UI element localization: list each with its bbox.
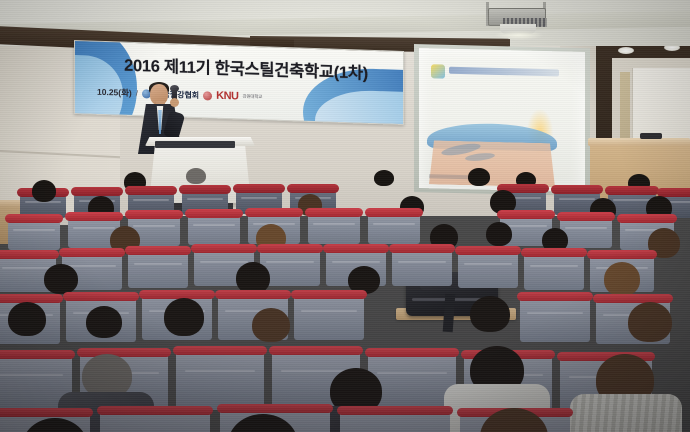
seat bbox=[524, 252, 584, 290]
seat bbox=[294, 294, 364, 340]
audience-head bbox=[164, 298, 204, 336]
audience-head bbox=[628, 302, 672, 342]
microphone-head-icon bbox=[170, 85, 179, 92]
projector-glow bbox=[494, 30, 544, 40]
banner-date: 10.25(화) bbox=[97, 86, 132, 99]
speaker-hand bbox=[170, 98, 179, 107]
downlight-icon bbox=[618, 47, 634, 54]
audience-head bbox=[604, 262, 640, 296]
audience-head bbox=[468, 168, 490, 186]
audience-head bbox=[374, 170, 394, 186]
audience-body bbox=[570, 394, 682, 432]
banner-separator: / bbox=[136, 89, 138, 98]
seat bbox=[392, 248, 452, 286]
seat bbox=[100, 410, 210, 432]
audience-head bbox=[470, 296, 510, 332]
control-desk-top bbox=[588, 138, 690, 146]
seat bbox=[128, 250, 188, 288]
audience-head bbox=[252, 308, 290, 342]
projector-icon bbox=[480, 2, 552, 36]
audience-seating-area bbox=[0, 168, 690, 432]
audience-head bbox=[32, 180, 56, 202]
seat bbox=[188, 213, 240, 245]
banner-title: 2016 제11기 한국스틸건축학교(1차) bbox=[103, 51, 389, 84]
knu-subtext: 강원대학교 bbox=[243, 94, 263, 101]
desk-equipment bbox=[640, 133, 662, 139]
knu-wordmark: KNU bbox=[216, 90, 238, 103]
audience-head bbox=[86, 306, 122, 338]
seat bbox=[458, 250, 518, 288]
backpack-strap bbox=[443, 294, 456, 333]
event-banner: 2016 제11기 한국스틸건축학교(1차) 10.25(화) / 한국철강협회… bbox=[74, 40, 404, 125]
audience-head bbox=[8, 302, 46, 336]
podium-laptop bbox=[155, 141, 235, 148]
lecture-hall-photo: 2016 제11기 한국스틸건축학교(1차) 10.25(화) / 한국철강협회… bbox=[0, 0, 690, 432]
knu-logo-icon bbox=[203, 91, 212, 100]
slide-logo-icon bbox=[431, 64, 445, 78]
seat bbox=[368, 352, 456, 412]
slide-title-text bbox=[449, 67, 559, 77]
audience-head bbox=[186, 168, 206, 184]
seat bbox=[368, 212, 420, 244]
seat bbox=[176, 350, 264, 410]
audience-head bbox=[486, 222, 512, 246]
seat bbox=[308, 212, 360, 244]
audience-head bbox=[44, 264, 78, 294]
seat bbox=[520, 296, 590, 342]
seat bbox=[8, 218, 60, 250]
